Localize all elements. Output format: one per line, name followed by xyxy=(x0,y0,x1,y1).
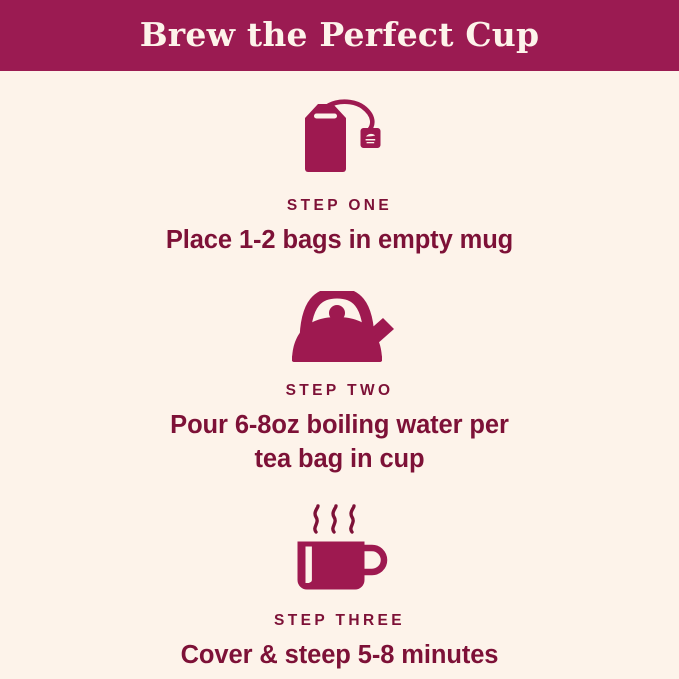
steaming-mug-icon xyxy=(288,502,392,594)
step-description: Cover & steep 5-8 minutes xyxy=(181,639,499,673)
step-item: STEP TWO Pour 6-8oz boiling water per te… xyxy=(0,291,679,477)
page-title: Brew the Perfect Cup xyxy=(140,18,540,53)
steps-list: STEP ONE Place 1-2 bags in empty mug xyxy=(0,71,679,679)
brew-instructions-infographic: Brew the Perfect Cup xyxy=(0,0,679,679)
header-band: Brew the Perfect Cup xyxy=(0,0,679,71)
kettle-icon xyxy=(282,291,398,363)
step-description-line: tea bag in cup xyxy=(170,443,509,477)
step-description: Pour 6-8oz boiling water per tea bag in … xyxy=(170,409,509,477)
step-description-line: Pour 6-8oz boiling water per xyxy=(170,409,509,443)
step-label: STEP TWO xyxy=(286,382,394,400)
tea-bag-icon xyxy=(285,95,395,177)
step-description: Place 1-2 bags in empty mug xyxy=(166,224,513,258)
step-item: STEP THREE Cover & steep 5-8 minutes xyxy=(0,502,679,673)
step-item: STEP ONE Place 1-2 bags in empty mug xyxy=(0,95,679,258)
step-label: STEP THREE xyxy=(274,612,405,630)
step-label: STEP ONE xyxy=(287,197,392,215)
